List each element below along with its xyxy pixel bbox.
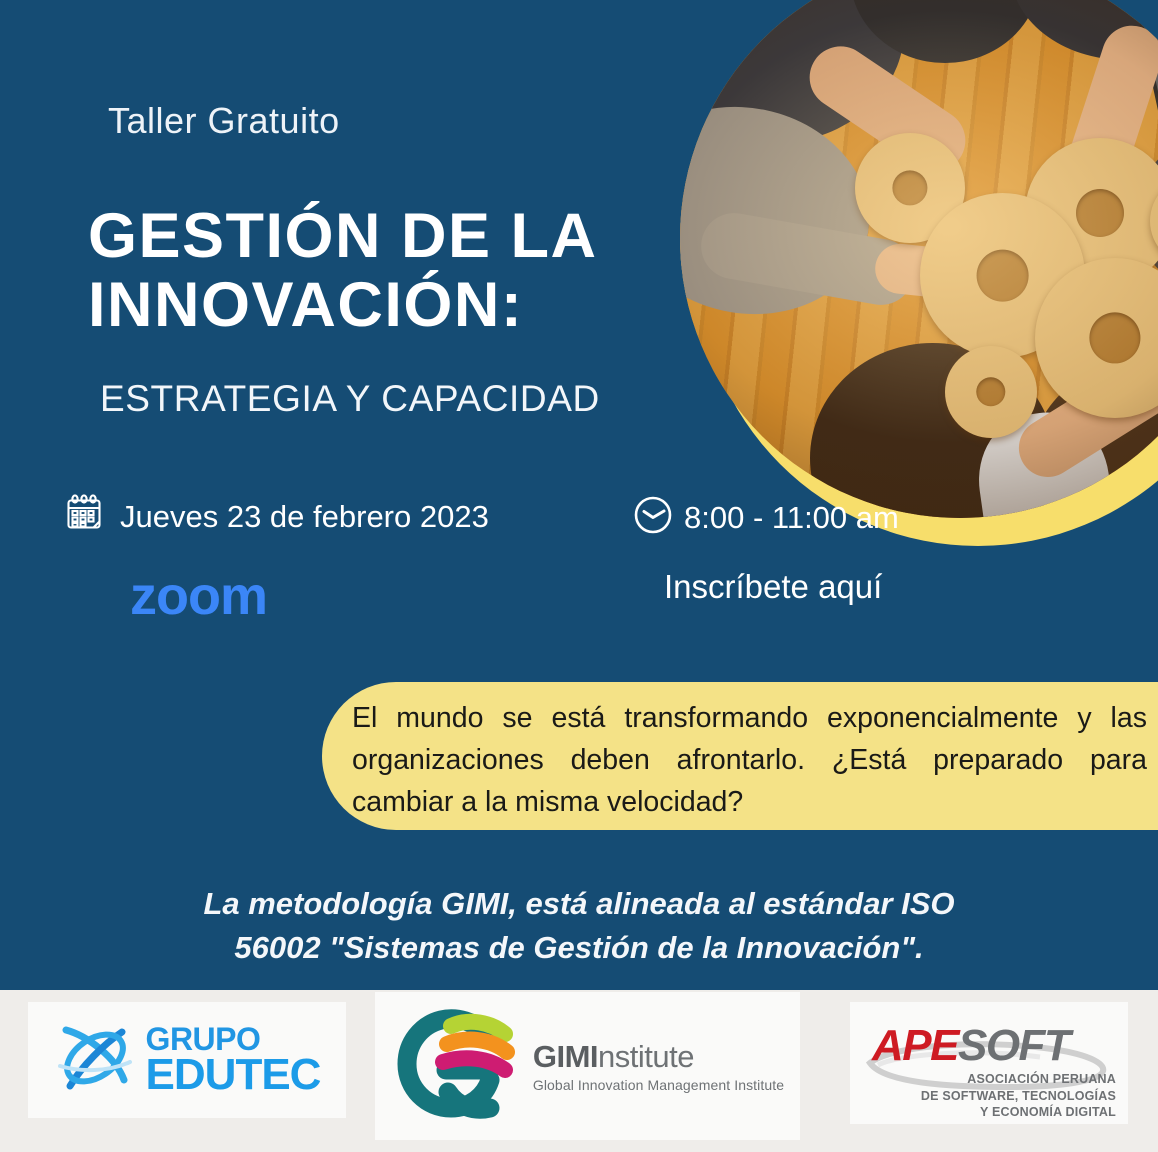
edutec-swirl-icon [54,1014,136,1107]
gimi-subtitle: Global Innovation Management Institute [533,1077,784,1093]
kicker-text: Taller Gratuito [108,100,340,142]
edutec-line-2: EDUTEC [146,1054,321,1096]
event-time-text: 8:00 - 11:00 am [684,500,899,536]
note-line-2: 56002 "Sistemas de Gestión de la Innovac… [0,926,1158,970]
sponsor-logo-band: GRUPO EDUTEC GIMIns [0,990,1158,1152]
photo-vignette [680,0,1158,518]
logo-card-grupo-edutec: GRUPO EDUTEC [28,1002,346,1118]
apesoft-tagline-line-1: ASOCIACIÓN PERUANA [921,1071,1116,1088]
event-date-text: Jueves 23 de febrero 2023 [120,499,489,535]
callout-box: El mundo se está transformando exponenci… [322,682,1158,830]
apesoft-wordmark: APESOFT [872,1021,1069,1071]
promotional-flyer: Taller Gratuito GESTIÓN DE LA INNOVACIÓN… [0,0,1158,1152]
apesoft-tagline-line-2: DE SOFTWARE, TECNOLOGÍAS [921,1088,1116,1105]
register-link[interactable]: Inscríbete aquí [664,568,882,606]
hero-photo-group [672,0,1158,538]
gimi-title-thin: nstitute [598,1039,694,1074]
page-title: GESTIÓN DE LA INNOVACIÓN: [88,205,598,337]
logo-card-gimi-institute: GIMInstitute Global Innovation Managemen… [375,992,800,1140]
event-time-group: 8:00 - 11:00 am [632,494,899,541]
apesoft-tagline-line-3: Y ECONOMÍA DIGITAL [921,1104,1116,1121]
gimi-spiral-icon [391,1000,519,1133]
hero-photo-circle [680,0,1158,518]
headline-line-1: GESTIÓN DE LA [88,201,598,271]
edutec-wordmark: GRUPO EDUTEC [146,1024,321,1096]
gimi-title-bold: GIMI [533,1039,598,1074]
event-date-group: Jueves 23 de febrero 2023 [62,492,489,541]
calendar-icon [62,492,106,541]
clock-icon [632,494,674,541]
apesoft-title-red: APE [872,1021,958,1070]
apesoft-title-gray: SOFT [958,1021,1069,1070]
note-line-1: La metodología GIMI, está alineada al es… [0,882,1158,926]
callout-text: El mundo se está transformando exponenci… [352,698,1147,824]
apesoft-tagline: ASOCIACIÓN PERUANA DE SOFTWARE, TECNOLOG… [921,1071,1116,1121]
logo-card-apesoft: APESOFT ASOCIACIÓN PERUANA DE SOFTWARE, … [850,1002,1128,1124]
zoom-logo[interactable]: zoom [130,565,267,627]
gimi-title: GIMInstitute [533,1039,784,1075]
methodology-note: La metodología GIMI, está alineada al es… [0,882,1158,970]
subtitle: ESTRATEGIA Y CAPACIDAD [100,378,600,420]
gimi-wordmark: GIMInstitute Global Innovation Managemen… [533,1039,784,1093]
headline-line-2: INNOVACIÓN: [88,274,598,337]
